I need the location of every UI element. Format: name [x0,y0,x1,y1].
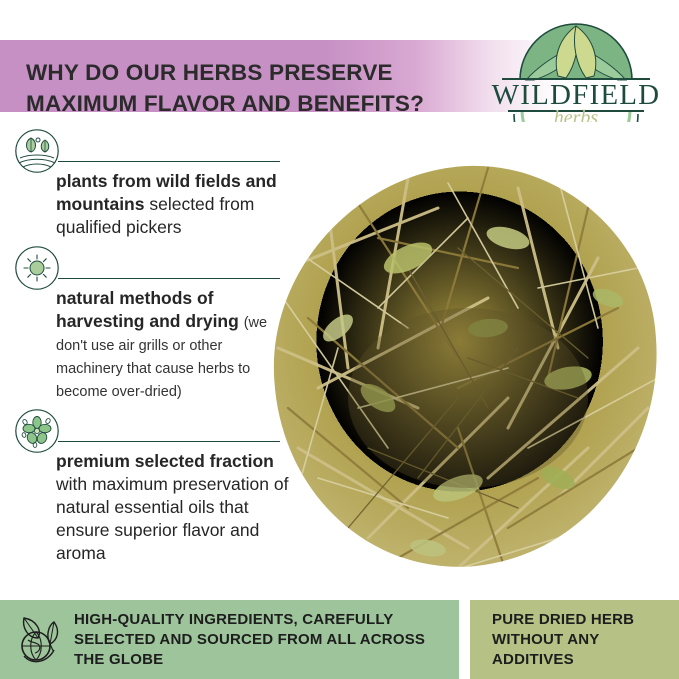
feature-text-bold: natural methods of harvesting and drying [56,288,239,331]
feature-item-natural-drying: natural methods of harvesting and drying… [0,245,300,402]
banner-quality-text: HIGH-QUALITY INGREDIENTS, CAREFULLY SELE… [74,610,459,670]
page-title: WHY DO OUR HERBS PRESERVE MAXIMUM FLAVOR… [26,57,496,119]
feature-list: plants from wild fields and mountains se… [0,128,300,571]
feature-text-rest: with maximum preservation of natural ess… [56,474,288,563]
sun-icon [14,245,60,291]
banner-quality: HIGH-QUALITY INGREDIENTS, CAREFULLY SELE… [0,600,459,679]
banner-pure-text: PURE DRIED HERB WITHOUT ANY ADDITIVES [492,610,679,670]
feature-divider [58,161,280,162]
feature-item-premium-fraction: premium selected fraction with maximum p… [0,408,300,565]
flower-icon [14,408,60,454]
feature-head [0,245,300,293]
feature-divider [58,441,280,442]
feature-head [0,128,300,176]
page-title-line-1: WHY DO OUR HERBS PRESERVE [26,60,393,85]
feature-text: premium selected fraction with maximum p… [0,450,300,565]
feature-head [0,408,300,456]
brand-logo: WILDFIELD herbs [488,18,664,122]
feature-divider [58,278,280,279]
herb-photo [258,148,678,588]
feature-text: plants from wild fields and mountains se… [0,170,300,239]
banner-pure: PURE DRIED HERB WITHOUT ANY ADDITIVES [470,600,679,679]
field-plants-icon [14,128,60,174]
page-title-line-2: MAXIMUM FLAVOR AND BENEFITS? [26,88,496,119]
logo-tagline-text: herbs [554,107,599,122]
globe-leaves-icon [10,612,66,668]
feature-item-wild-fields: plants from wild fields and mountains se… [0,128,300,239]
feature-text: natural methods of harvesting and drying… [0,287,300,402]
infographic-page: WHY DO OUR HERBS PRESERVE MAXIMUM FLAVOR… [0,0,679,679]
